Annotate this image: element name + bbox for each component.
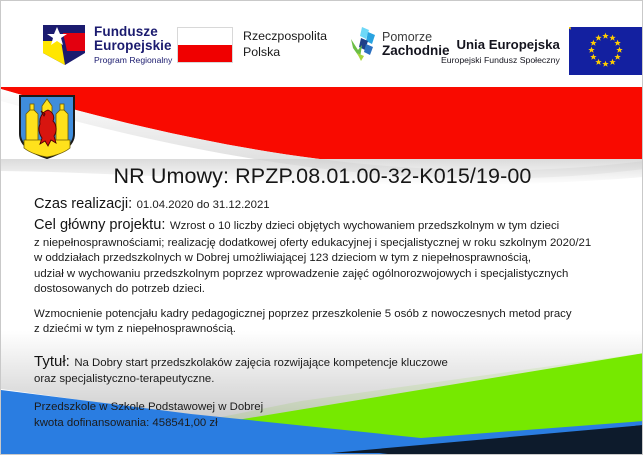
wzmocnienie-line-1: Wzmocnienie potencjału kadry pedagogiczn… (34, 307, 624, 323)
cel-line-4: udział w wychowaniu przedszkolnym poprze… (34, 267, 624, 283)
contract-number-title: NR Umowy: RPZP.08.01.00-32-K015/19-00 (1, 164, 643, 189)
row-czas-realizacji: Czas realizacji: 01.04.2020 do 31.12.202… (34, 193, 624, 214)
czas-label: Czas realizacji: (34, 196, 132, 212)
cel-line-3: w oddziałach przedszkolnych w Dobrej umo… (34, 251, 624, 267)
beneficjent-line-2: kwota dofinansowania: 458541,00 zł (34, 416, 624, 432)
cel-line-5: dostosowanych do potrzeb dzieci. (34, 282, 624, 298)
czas-value: 01.04.2020 do 31.12.2021 (137, 199, 270, 211)
cel-value-first-line: Wzrost o 10 liczby dzieci objętych wycho… (170, 220, 559, 232)
cel-line-2: z niepełnosprawnościami; realizację doda… (34, 236, 624, 252)
tytul-value-line-1: Na Dobry start przedszkolaków zajęcia ro… (74, 357, 448, 369)
row-tytul: Tytuł: Na Dobry start przedszkolaków zaj… (34, 351, 624, 372)
tytul-label: Tytuł: (34, 353, 70, 370)
row-cel-glowny: Cel główny projektu: Wzrost o 10 liczby … (34, 214, 624, 235)
tytul-value-line-2: oraz specjalistyczno-terapeutyczne. (34, 372, 624, 388)
project-information-poster: Fundusze Europejskie Program Regionalny … (0, 0, 643, 455)
beneficjent-line-1: Przedszkole w Szkole Podstawowej w Dobre… (34, 400, 624, 416)
cel-label: Cel główny projektu: (34, 217, 165, 233)
wzmocnienie-line-2: z dziećmi w tym z niepełnosprawnością. (34, 322, 624, 338)
project-details: Czas realizacji: 01.04.2020 do 31.12.202… (34, 193, 624, 431)
poster-content: NR Umowy: RPZP.08.01.00-32-K015/19-00 Cz… (1, 1, 643, 455)
